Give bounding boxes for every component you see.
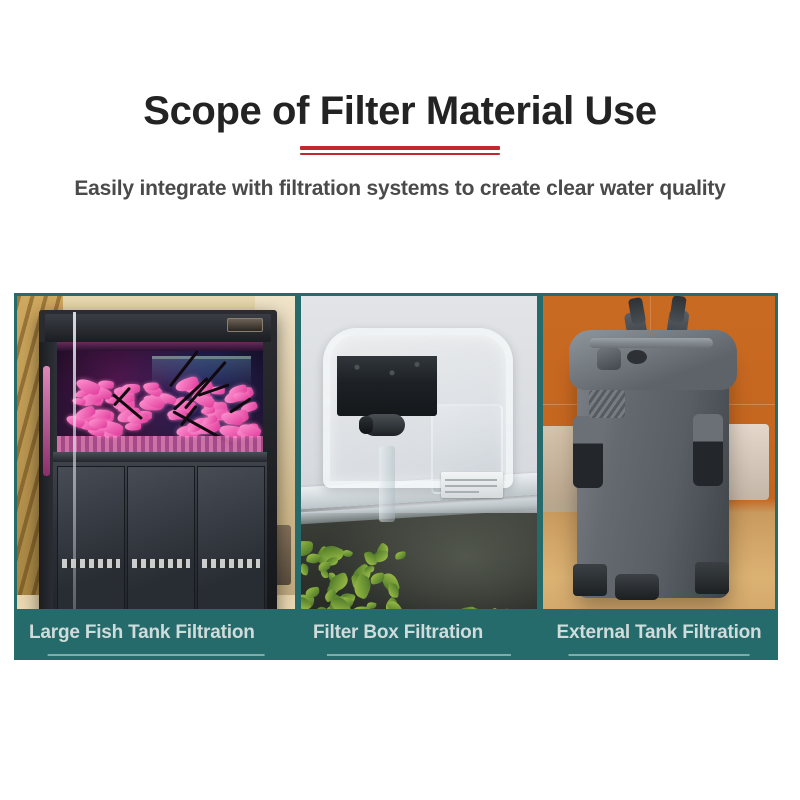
cabinet-door [57, 466, 125, 624]
panel-caption-filter-box: Filter Box Filtration [301, 609, 537, 657]
aquarium-edge-highlight [73, 312, 76, 630]
canister-foot-left [573, 564, 607, 596]
panel-caption-external-tank: External Tank Filtration [543, 609, 775, 657]
panel-caption-large-fish-tank: Large Fish Tank Filtration [17, 609, 295, 657]
aquarium-glass-view [57, 342, 263, 452]
canister-head-ridge [589, 338, 713, 348]
label-line [445, 485, 497, 487]
fish [143, 382, 159, 390]
plant-leaf [301, 563, 310, 575]
cabinet-badge [62, 559, 120, 568]
photo-external-canister [543, 296, 775, 657]
caption-underline [327, 654, 511, 656]
filtration-gallery: Large Fish Tank Filtration [14, 293, 778, 660]
gallery-panel-external-tank[interactable]: External Tank Filtration [543, 296, 775, 657]
aquarium-mid-rail [53, 452, 267, 462]
plant-leaf [365, 566, 375, 573]
cabinet-badge [132, 559, 190, 568]
page-title: Scope of Filter Material Use [0, 88, 800, 134]
label-line [445, 479, 497, 481]
accent-line-top [300, 146, 500, 150]
caption-text: External Tank Filtration [557, 623, 762, 643]
fish-school [63, 380, 259, 434]
page-header: Scope of Filter Material Use Easily inte… [0, 0, 800, 201]
title-accent-rule [0, 146, 800, 155]
photo-large-fish-tank [17, 296, 295, 657]
caption-underline [569, 654, 750, 656]
page-root: Scope of Filter Material Use Easily inte… [0, 0, 800, 800]
caption-text: Filter Box Filtration [313, 623, 483, 643]
canister-foot-right [695, 562, 729, 594]
page-subtitle: Easily integrate with filtration systems… [0, 177, 800, 201]
aquarium-control-panel [227, 318, 263, 332]
cabinet-door [127, 466, 195, 624]
canister-base-valve [615, 574, 659, 600]
caption-underline [48, 654, 265, 656]
canister-clamp-right [693, 414, 723, 486]
canister-head-recess [627, 350, 647, 364]
filter-nozzle-cap [359, 416, 373, 434]
aquarium-cabinet [53, 462, 267, 630]
plant-leaf [305, 587, 320, 599]
caption-text: Large Fish Tank Filtration [29, 623, 255, 643]
canister-priming-knob [597, 348, 621, 370]
plant-leaf [395, 551, 406, 560]
filter-media-chamber [337, 356, 437, 416]
canister-clamp-left [573, 416, 603, 488]
filter-spec-label [441, 472, 503, 498]
aquarium-side-light [43, 366, 50, 476]
photo-filter-box [301, 296, 537, 657]
cabinet-badge [202, 559, 260, 568]
aquarium-hood [45, 314, 271, 342]
gallery-panel-filter-box[interactable]: Filter Box Filtration [301, 296, 537, 657]
accent-line-bottom [300, 153, 500, 155]
label-line [445, 491, 479, 493]
plant-leaf [318, 562, 330, 571]
aquarium-top-light-strip [57, 342, 263, 351]
plant-leaf [342, 548, 354, 559]
cabinet-door [197, 466, 265, 624]
filter-intake-tube [379, 446, 395, 522]
aquarium-gravel [57, 436, 263, 452]
gallery-panel-large-fish-tank[interactable]: Large Fish Tank Filtration [17, 296, 295, 657]
canister-grip-texture [589, 390, 625, 418]
filter-sponge-media [337, 356, 437, 384]
